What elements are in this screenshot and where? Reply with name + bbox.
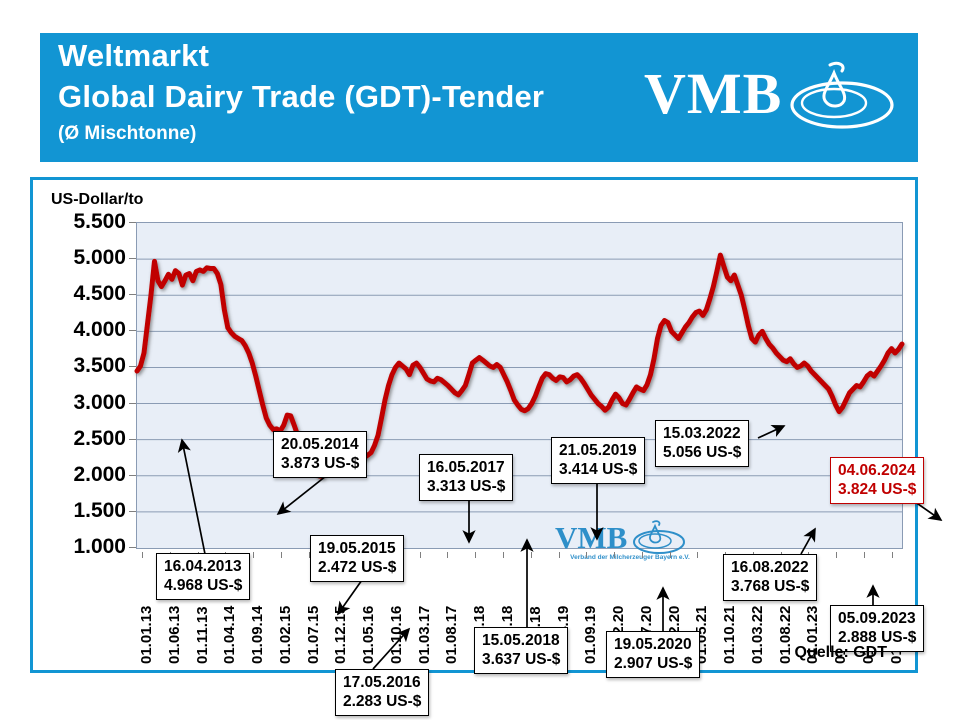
annotation-callout: 04.06.20243.824 US-$: [830, 457, 924, 504]
annotation-value: 3.873 US-$: [281, 454, 359, 473]
plot-wrapper: 5.5005.0004.5004.0003.5003.0002.5002.000…: [33, 180, 921, 676]
header-subtitle: (Ø Mischtonne): [58, 123, 196, 145]
annotation-date: 04.06.2024: [838, 461, 916, 480]
annotation-date: 15.05.2018: [482, 631, 560, 650]
annotation-callout: 19.05.20152.472 US-$: [310, 535, 404, 582]
annotation-date: 05.09.2023: [838, 609, 916, 628]
source-label: Quelle: GDT: [795, 644, 887, 662]
annotation-date: 20.05.2014: [281, 435, 359, 454]
header-title-line1: Weltmarkt: [58, 38, 209, 74]
annotation-value: 3.768 US-$: [731, 577, 809, 596]
annotation-date: 16.04.2013: [164, 557, 242, 576]
annotation-arrow: [801, 529, 815, 554]
annotation-date: 19.05.2020: [614, 635, 692, 654]
annotation-date: 17.05.2016: [343, 673, 421, 692]
header-banner: Weltmarkt Global Dairy Trade (GDT)-Tende…: [40, 33, 918, 162]
annotation-callout: 16.05.20173.313 US-$: [419, 454, 513, 501]
annotation-arrow: [373, 629, 409, 669]
annotation-callout: 16.04.20134.968 US-$: [156, 553, 250, 600]
screenshot-root: Weltmarkt Global Dairy Trade (GDT)-Tende…: [0, 0, 960, 720]
annotation-callout: 15.05.20183.637 US-$: [474, 627, 568, 674]
annotation-value: 4.968 US-$: [164, 576, 242, 595]
chart-frame: US-Dollar/to 5.5005.0004.5004.0003.5003.…: [30, 177, 918, 673]
annotation-value: 5.056 US-$: [663, 443, 741, 462]
vmb-wordmark: VMB: [644, 65, 782, 123]
milk-drop-icon: [790, 59, 894, 131]
annotation-date: 16.05.2017: [427, 458, 505, 477]
annotation-arrow: [182, 440, 205, 554]
vmb-logo: VMB: [644, 59, 894, 135]
annotation-value: 3.637 US-$: [482, 650, 560, 669]
annotation-date: 15.03.2022: [663, 424, 741, 443]
annotation-arrow: [758, 426, 784, 438]
annotation-date: 21.05.2019: [559, 441, 637, 460]
annotation-value: 3.313 US-$: [427, 477, 505, 496]
annotation-value: 2.283 US-$: [343, 692, 421, 711]
annotation-arrow: [278, 476, 326, 514]
annotation-value: 2.907 US-$: [614, 654, 692, 673]
annotation-callout: 15.03.20225.056 US-$: [655, 420, 749, 467]
annotation-arrows: [33, 180, 921, 676]
annotation-date: 19.05.2015: [318, 539, 396, 558]
annotation-value: 2.472 US-$: [318, 558, 396, 577]
annotation-callout: 16.08.20223.768 US-$: [723, 554, 817, 601]
annotation-value: 3.414 US-$: [559, 460, 637, 479]
annotation-date: 16.08.2022: [731, 558, 809, 577]
annotation-callout: 21.05.20193.414 US-$: [551, 437, 645, 484]
annotation-callout: 17.05.20162.283 US-$: [335, 669, 429, 716]
annotation-callout: 19.05.20202.907 US-$: [606, 631, 700, 678]
header-title-line2: Global Dairy Trade (GDT)-Tender: [58, 79, 544, 115]
annotation-value: 3.824 US-$: [838, 480, 916, 499]
annotation-callout: 20.05.20143.873 US-$: [273, 431, 367, 478]
annotation-arrow: [338, 580, 362, 614]
